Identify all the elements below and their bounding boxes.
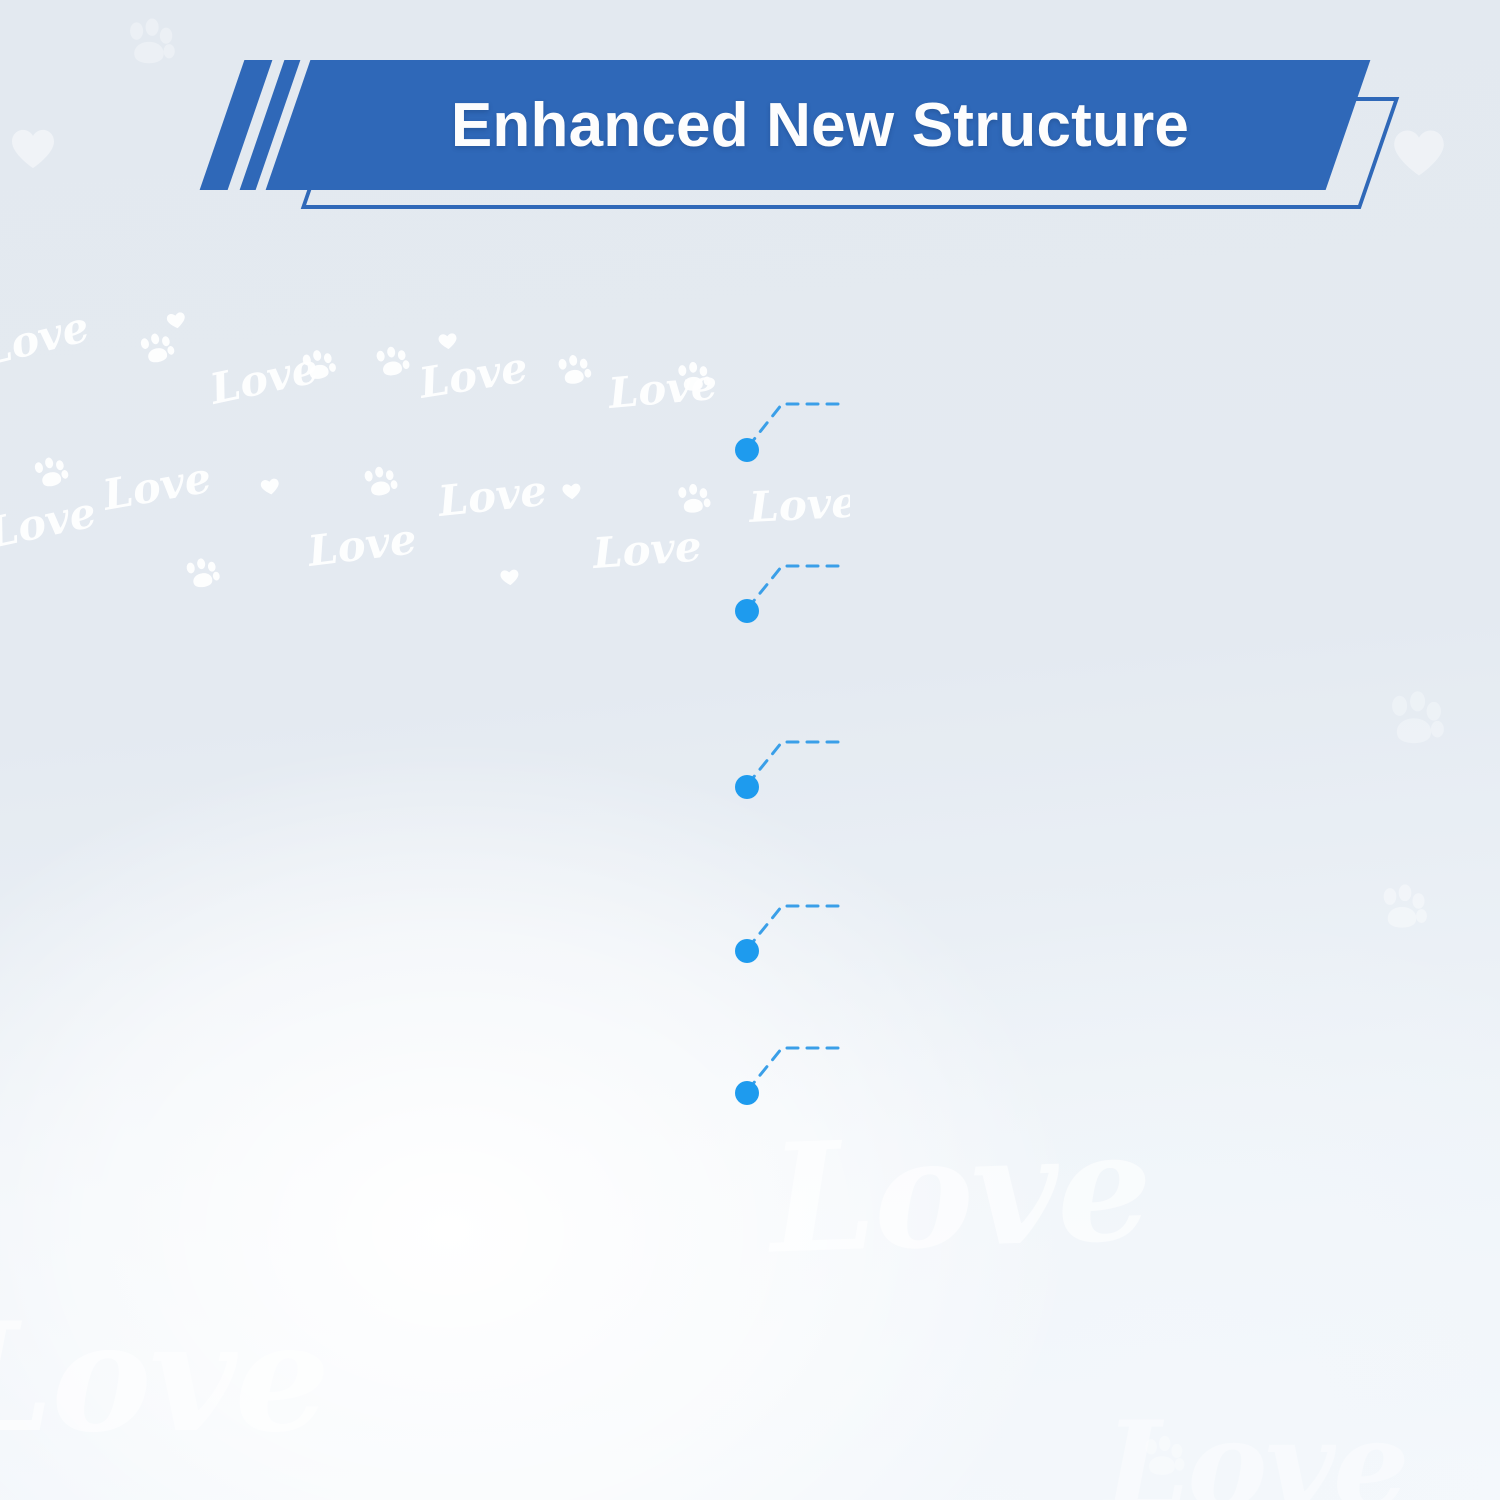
page-title: Enhanced New Structure [300,60,1340,190]
fabric-layer-stack: Love [0,248,890,1448]
fabric-layer-thermochromic: Love [0,248,850,648]
infographic-canvas: Love Love Love Enhanced New Structure [0,0,1500,1500]
header-banner: Enhanced New Structure [0,42,1500,242]
layer-edge-shadow [0,248,850,648]
